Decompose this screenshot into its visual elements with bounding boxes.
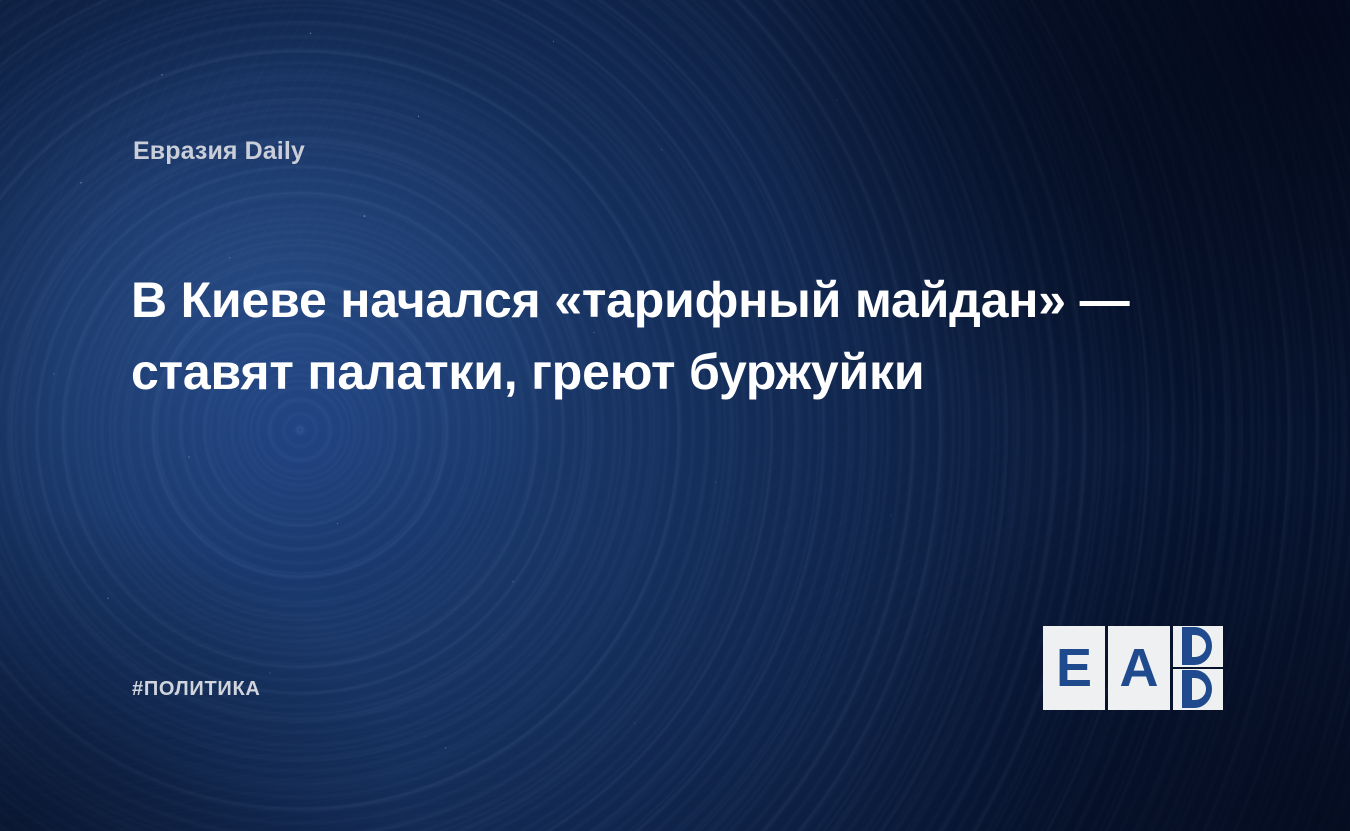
logo-letter-a: A [1108, 626, 1170, 710]
headline-line-2: ставят палатки, греют буржуйки [131, 336, 1221, 408]
card-content: Евразия Daily В Киеве начался «тарифный … [0, 0, 1350, 831]
logo-tile-e: E [1043, 626, 1105, 710]
headline-line-1: В Киеве начался «тарифный майдан» — [131, 264, 1221, 336]
news-share-card: Евразия Daily В Киеве начался «тарифный … [0, 0, 1350, 831]
headline: В Киеве начался «тарифный майдан» — став… [131, 264, 1221, 408]
eadaily-logo: E A [1043, 626, 1223, 710]
logo-tile-a: A [1108, 626, 1170, 710]
logo-tile-d-top [1173, 626, 1223, 667]
category-hashtag: #ПОЛИТИКА [132, 678, 261, 701]
site-logo-text: Евразия Daily [133, 137, 305, 166]
logo-letter-d-bottom-icon [1173, 669, 1223, 710]
logo-tile-d-bottom [1173, 669, 1223, 710]
logo-letter-d-top-icon [1173, 626, 1223, 667]
logo-letter-e: E [1043, 626, 1105, 710]
